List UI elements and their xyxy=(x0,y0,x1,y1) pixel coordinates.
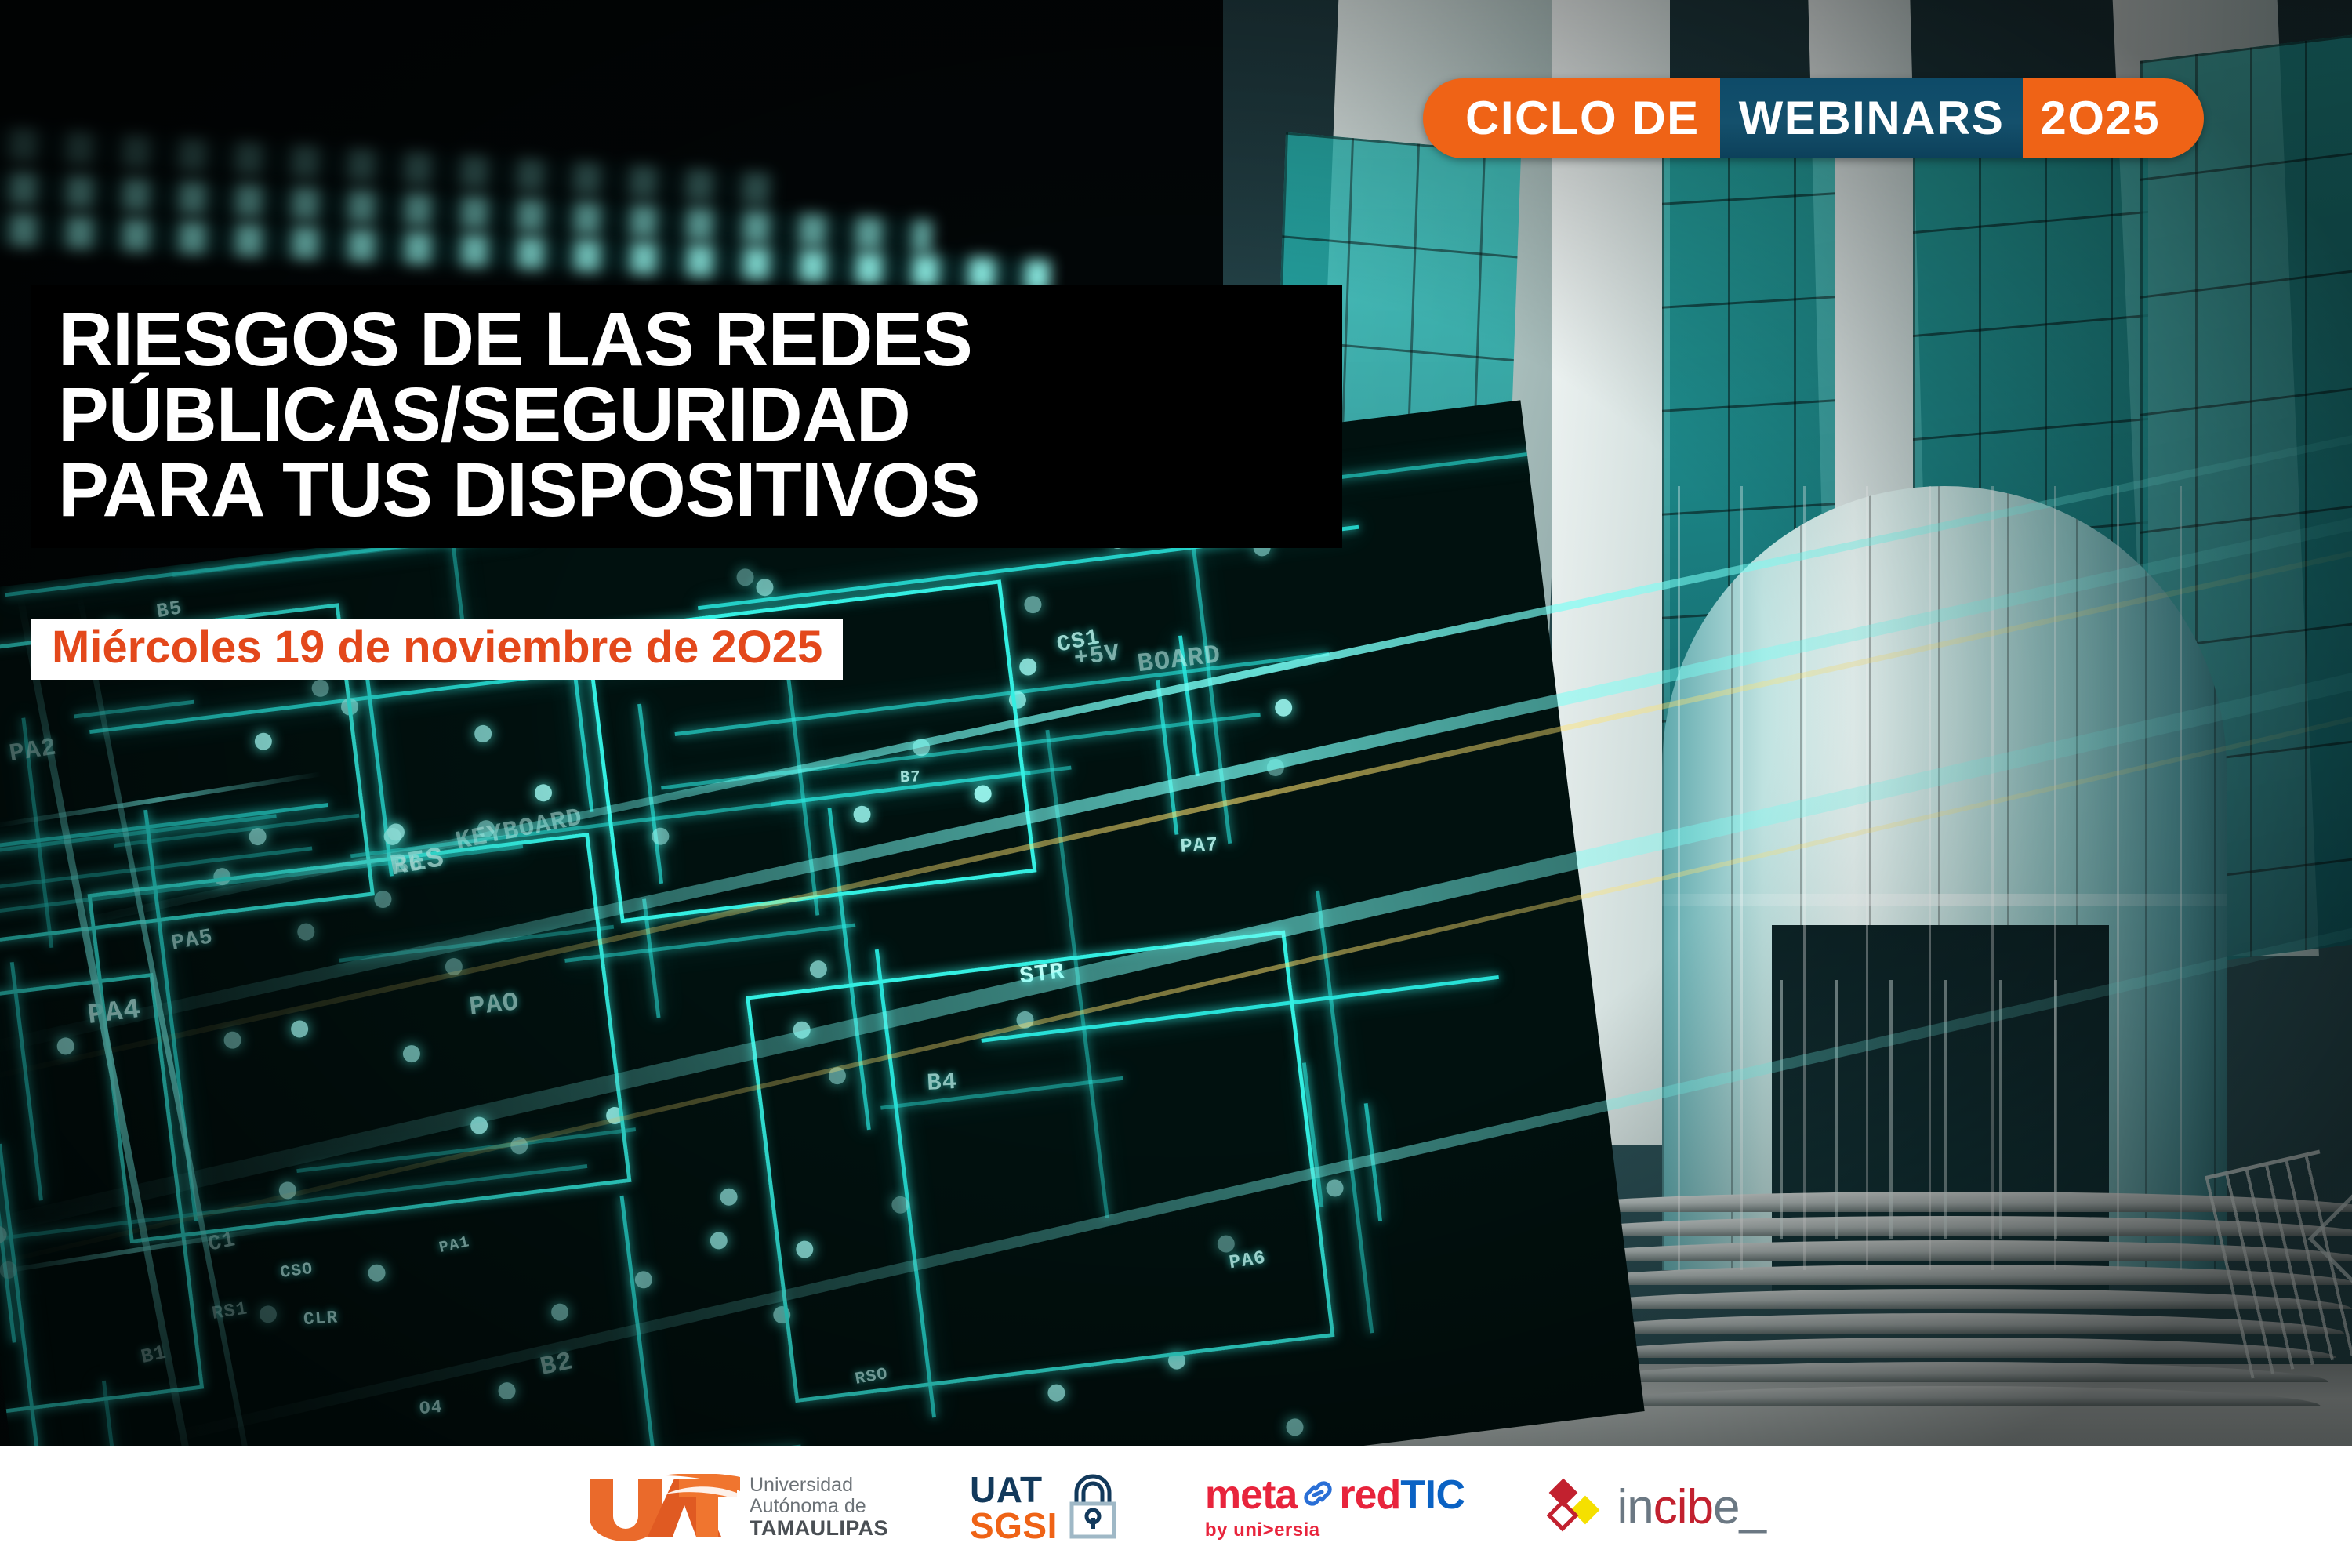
chain-link-icon xyxy=(1300,1478,1336,1512)
circuit-overlay: KEYBOARDSTRCLRRESB7B6B5B4B3B2B1PA7PA6PA5… xyxy=(0,400,1645,1568)
padlock-icon xyxy=(1062,1469,1123,1545)
title-line-1: RIESGOS DE LAS REDES xyxy=(31,302,1342,377)
rotunda-mullion xyxy=(1866,486,1868,1270)
step xyxy=(1576,1362,2328,1382)
metared-part-3: TIC xyxy=(1400,1475,1465,1515)
rotunda-band xyxy=(1662,894,2227,906)
circuit-chip-outline xyxy=(746,930,1334,1403)
uat-line-3: TAMAULIPAS xyxy=(750,1517,888,1540)
circuit-label: B4 xyxy=(926,1068,958,1097)
circuit-label: CLR xyxy=(303,1308,339,1330)
metared-part-1: meta xyxy=(1205,1475,1297,1515)
sgsi-line-2: SGSI xyxy=(970,1508,1058,1544)
rotunda-mullion xyxy=(1740,486,1743,1270)
logo-uat-tamaulipas[interactable]: Universidad Autónoma de TAMAULIPAS xyxy=(586,1474,888,1541)
rotunda-mullion xyxy=(2117,486,2119,1270)
page-title: RIESGOS DE LAS REDES PÚBLICAS/SEGURIDAD … xyxy=(31,285,1342,548)
webinar-badge[interactable]: CICLO DE WEBINARS 2O25 xyxy=(1423,78,2204,158)
incibe-part-4: _ xyxy=(1740,1483,1766,1532)
logo-metared-tic[interactable]: meta red TIC by uni>ersia xyxy=(1205,1475,1465,1540)
sgsi-line-1: UAT xyxy=(970,1472,1058,1508)
uat-mark-icon xyxy=(586,1474,740,1541)
metared-wordmark: meta red TIC by uni>ersia xyxy=(1205,1475,1465,1540)
incibe-part-1: in xyxy=(1617,1483,1653,1532)
incibe-part-2: cib xyxy=(1653,1483,1713,1532)
rotunda-mullion xyxy=(1678,486,1680,1270)
circuit-label: B6 xyxy=(393,851,424,880)
circuit-label: PA7 xyxy=(1180,835,1219,859)
entrance-door-mullion xyxy=(1835,980,1838,1239)
step xyxy=(1584,1386,2321,1406)
entrance-door-mullion xyxy=(1944,980,1947,1239)
metared-top-row: meta red TIC xyxy=(1205,1475,1465,1515)
metared-subtitle: by uni>ersia xyxy=(1205,1521,1465,1540)
circuit-label: PA4 xyxy=(86,994,143,1032)
incibe-wordmark: incibe_ xyxy=(1617,1483,1766,1532)
metared-part-2: red xyxy=(1339,1475,1400,1515)
rotunda-mullion xyxy=(1929,486,1931,1270)
footer-logo-bar: Universidad Autónoma de TAMAULIPAS UAT S… xyxy=(0,1446,2352,1568)
title-line-3: PARA TUS DISPOSITIVOS xyxy=(31,452,1342,528)
entrance-door-mullion xyxy=(1999,980,2002,1239)
entrance-door-mullion xyxy=(1780,980,1783,1239)
circuit-label: B7 xyxy=(899,768,921,787)
step xyxy=(1560,1313,2344,1334)
diamonds-icon xyxy=(1547,1476,1605,1538)
title-line-2: PÚBLICAS/SEGURIDAD xyxy=(31,377,1342,452)
circuit-label: O4 xyxy=(419,1396,444,1419)
step xyxy=(1568,1338,2336,1358)
entrance-door-mullion xyxy=(1889,980,1893,1239)
event-date-text: Miércoles 19 de noviembre de 2O25 xyxy=(52,622,822,673)
webinar-poster: KEYBOARDSTRCLRRESB7B6B5B4B3B2B1PA7PA6PA5… xyxy=(0,0,2352,1568)
logo-uat-sgsi[interactable]: UAT SGSI xyxy=(970,1469,1123,1545)
circuit-label: PAO xyxy=(468,988,521,1022)
entrance-door-mullion xyxy=(2054,980,2057,1239)
circuit-label: B2 xyxy=(538,1347,576,1383)
sgsi-wordmark: UAT SGSI xyxy=(970,1472,1058,1544)
incibe-part-3: e xyxy=(1713,1483,1739,1532)
uat-wordmark: Universidad Autónoma de TAMAULIPAS xyxy=(750,1475,888,1539)
badge-highlight: WEBINARS xyxy=(1720,78,2024,158)
event-date: Miércoles 19 de noviembre de 2O25 xyxy=(31,619,843,680)
rotunda-mullion xyxy=(1991,486,1994,1270)
badge-prefix: CICLO DE xyxy=(1423,78,1720,158)
uat-line-2: Autónoma de xyxy=(750,1496,888,1517)
uat-line-1: Universidad xyxy=(750,1475,888,1496)
rotunda-mullion xyxy=(2180,486,2182,1270)
logo-incibe[interactable]: incibe_ xyxy=(1547,1476,1766,1538)
rotunda-mullion xyxy=(1803,486,1806,1270)
badge-year: 2O25 xyxy=(2023,78,2204,158)
